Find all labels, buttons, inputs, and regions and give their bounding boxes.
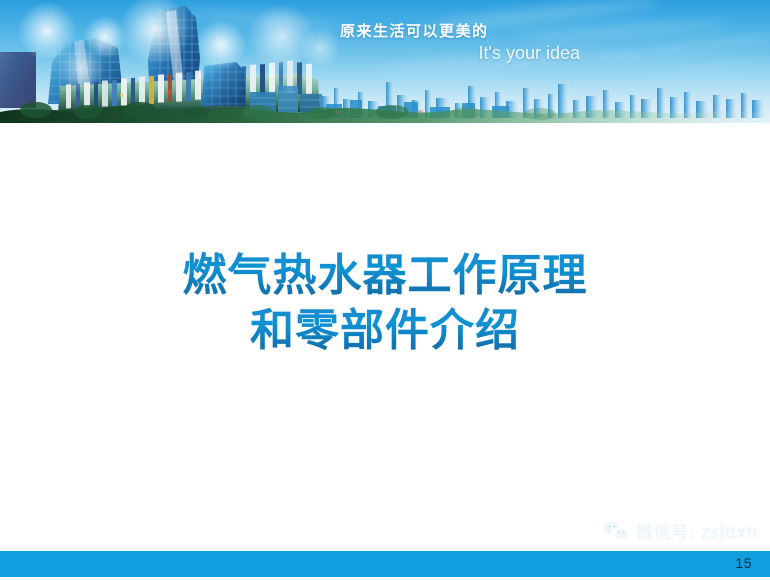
footer-bar — [0, 551, 770, 577]
wechat-watermark: 微信号: zsjdxh — [603, 518, 758, 543]
wechat-id-text: 微信号: zsjdxh — [636, 518, 758, 543]
header-banner-image: 原来生活可以更美的 It's your idea — [0, 0, 770, 123]
page-title: 燃气热水器工作原理 和零部件介绍 — [0, 248, 770, 358]
light-bokeh — [58, 46, 104, 92]
page-title-line-2: 和零部件介绍 — [0, 303, 770, 358]
light-bokeh — [196, 20, 246, 70]
light-bokeh — [300, 28, 340, 68]
page-title-line-1: 燃气热水器工作原理 — [0, 248, 770, 303]
building-slab-sheen — [0, 52, 36, 108]
slogan-chinese: 原来生活可以更美的 — [340, 22, 590, 41]
wechat-icon — [603, 520, 629, 542]
slogan-english: It's your idea — [340, 41, 590, 65]
presentation-slide: 原来生活可以更美的 It's your idea 燃气热水器工作原理 和零部件介… — [0, 0, 770, 580]
banner-slogan: 原来生活可以更美的 It's your idea — [340, 22, 590, 65]
page-number: 15 — [735, 555, 752, 571]
slide-body: 燃气热水器工作原理 和零部件介绍 — [0, 123, 770, 551]
